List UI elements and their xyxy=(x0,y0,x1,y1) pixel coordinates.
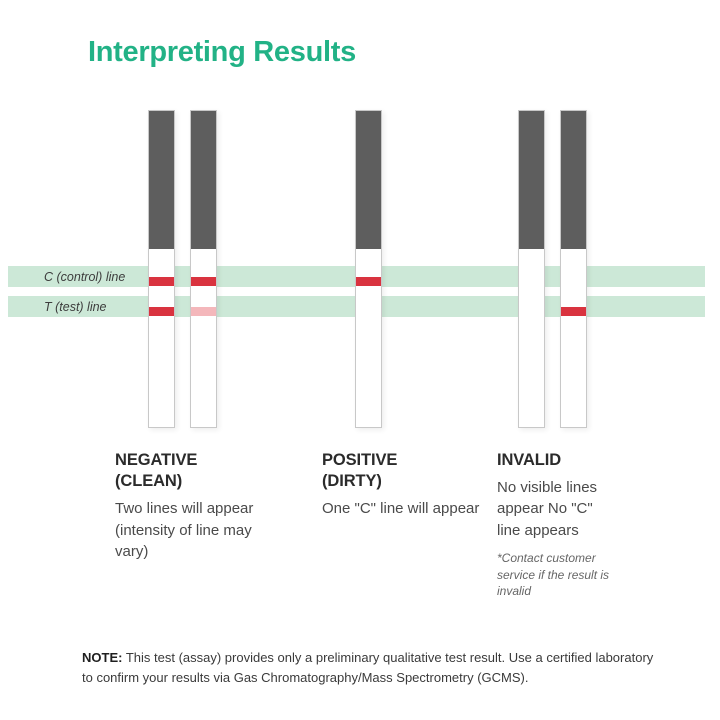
caption-invalid-heading-line1: INVALID xyxy=(497,451,561,469)
caption-positive: POSITIVE (DIRTY) One "C" line will appea… xyxy=(322,450,487,520)
bottom-note-label: NOTE: xyxy=(82,650,122,665)
control-line-mark xyxy=(519,277,544,286)
caption-negative-heading: NEGATIVE (CLEAN) xyxy=(115,450,280,492)
control-line-mark xyxy=(149,277,174,286)
negative-strip-1 xyxy=(148,110,175,428)
page-title: Interpreting Results xyxy=(88,36,356,69)
absorbent-pad xyxy=(519,111,544,249)
control-line-label: C (control) line xyxy=(44,270,125,284)
positive-strip-1 xyxy=(355,110,382,428)
caption-negative-heading-line1: NEGATIVE xyxy=(115,451,197,469)
caption-negative-heading-line2: (CLEAN) xyxy=(115,472,182,490)
caption-positive-heading-line1: POSITIVE xyxy=(322,451,397,469)
absorbent-pad xyxy=(191,111,216,249)
bottom-note: NOTE: This test (assay) provides only a … xyxy=(82,648,654,687)
caption-negative-body: Two lines will appear (intensity of line… xyxy=(115,498,280,562)
test-line-label: T (test) line xyxy=(44,300,107,314)
invalid-strip-2 xyxy=(560,110,587,428)
bottom-note-text: This test (assay) provides only a prelim… xyxy=(82,650,653,685)
caption-positive-body: One "C" line will appear xyxy=(322,498,487,519)
negative-strip-2 xyxy=(190,110,217,428)
invalid-strip-1 xyxy=(518,110,545,428)
interpreting-results-page: Interpreting Results C (control) line T … xyxy=(0,0,720,720)
control-line-mark xyxy=(356,277,381,286)
caption-positive-heading-line2: (DIRTY) xyxy=(322,472,382,490)
caption-positive-heading: POSITIVE (DIRTY) xyxy=(322,450,487,492)
test-line-mark xyxy=(149,307,174,316)
caption-invalid-body: No visible lines appear No "C" line appe… xyxy=(497,477,617,541)
test-line-mark xyxy=(356,307,381,316)
test-line-mark xyxy=(191,307,216,316)
test-line-mark xyxy=(519,307,544,316)
caption-invalid: INVALID No visible lines appear No "C" l… xyxy=(497,450,617,600)
test-line-mark xyxy=(561,307,586,316)
caption-invalid-heading: INVALID xyxy=(497,450,617,471)
control-line-mark xyxy=(191,277,216,286)
caption-negative: NEGATIVE (CLEAN) Two lines will appear (… xyxy=(115,450,280,562)
control-line-mark xyxy=(561,277,586,286)
absorbent-pad xyxy=(356,111,381,249)
absorbent-pad xyxy=(561,111,586,249)
caption-invalid-footnote: *Contact customer service if the result … xyxy=(497,550,617,600)
absorbent-pad xyxy=(149,111,174,249)
